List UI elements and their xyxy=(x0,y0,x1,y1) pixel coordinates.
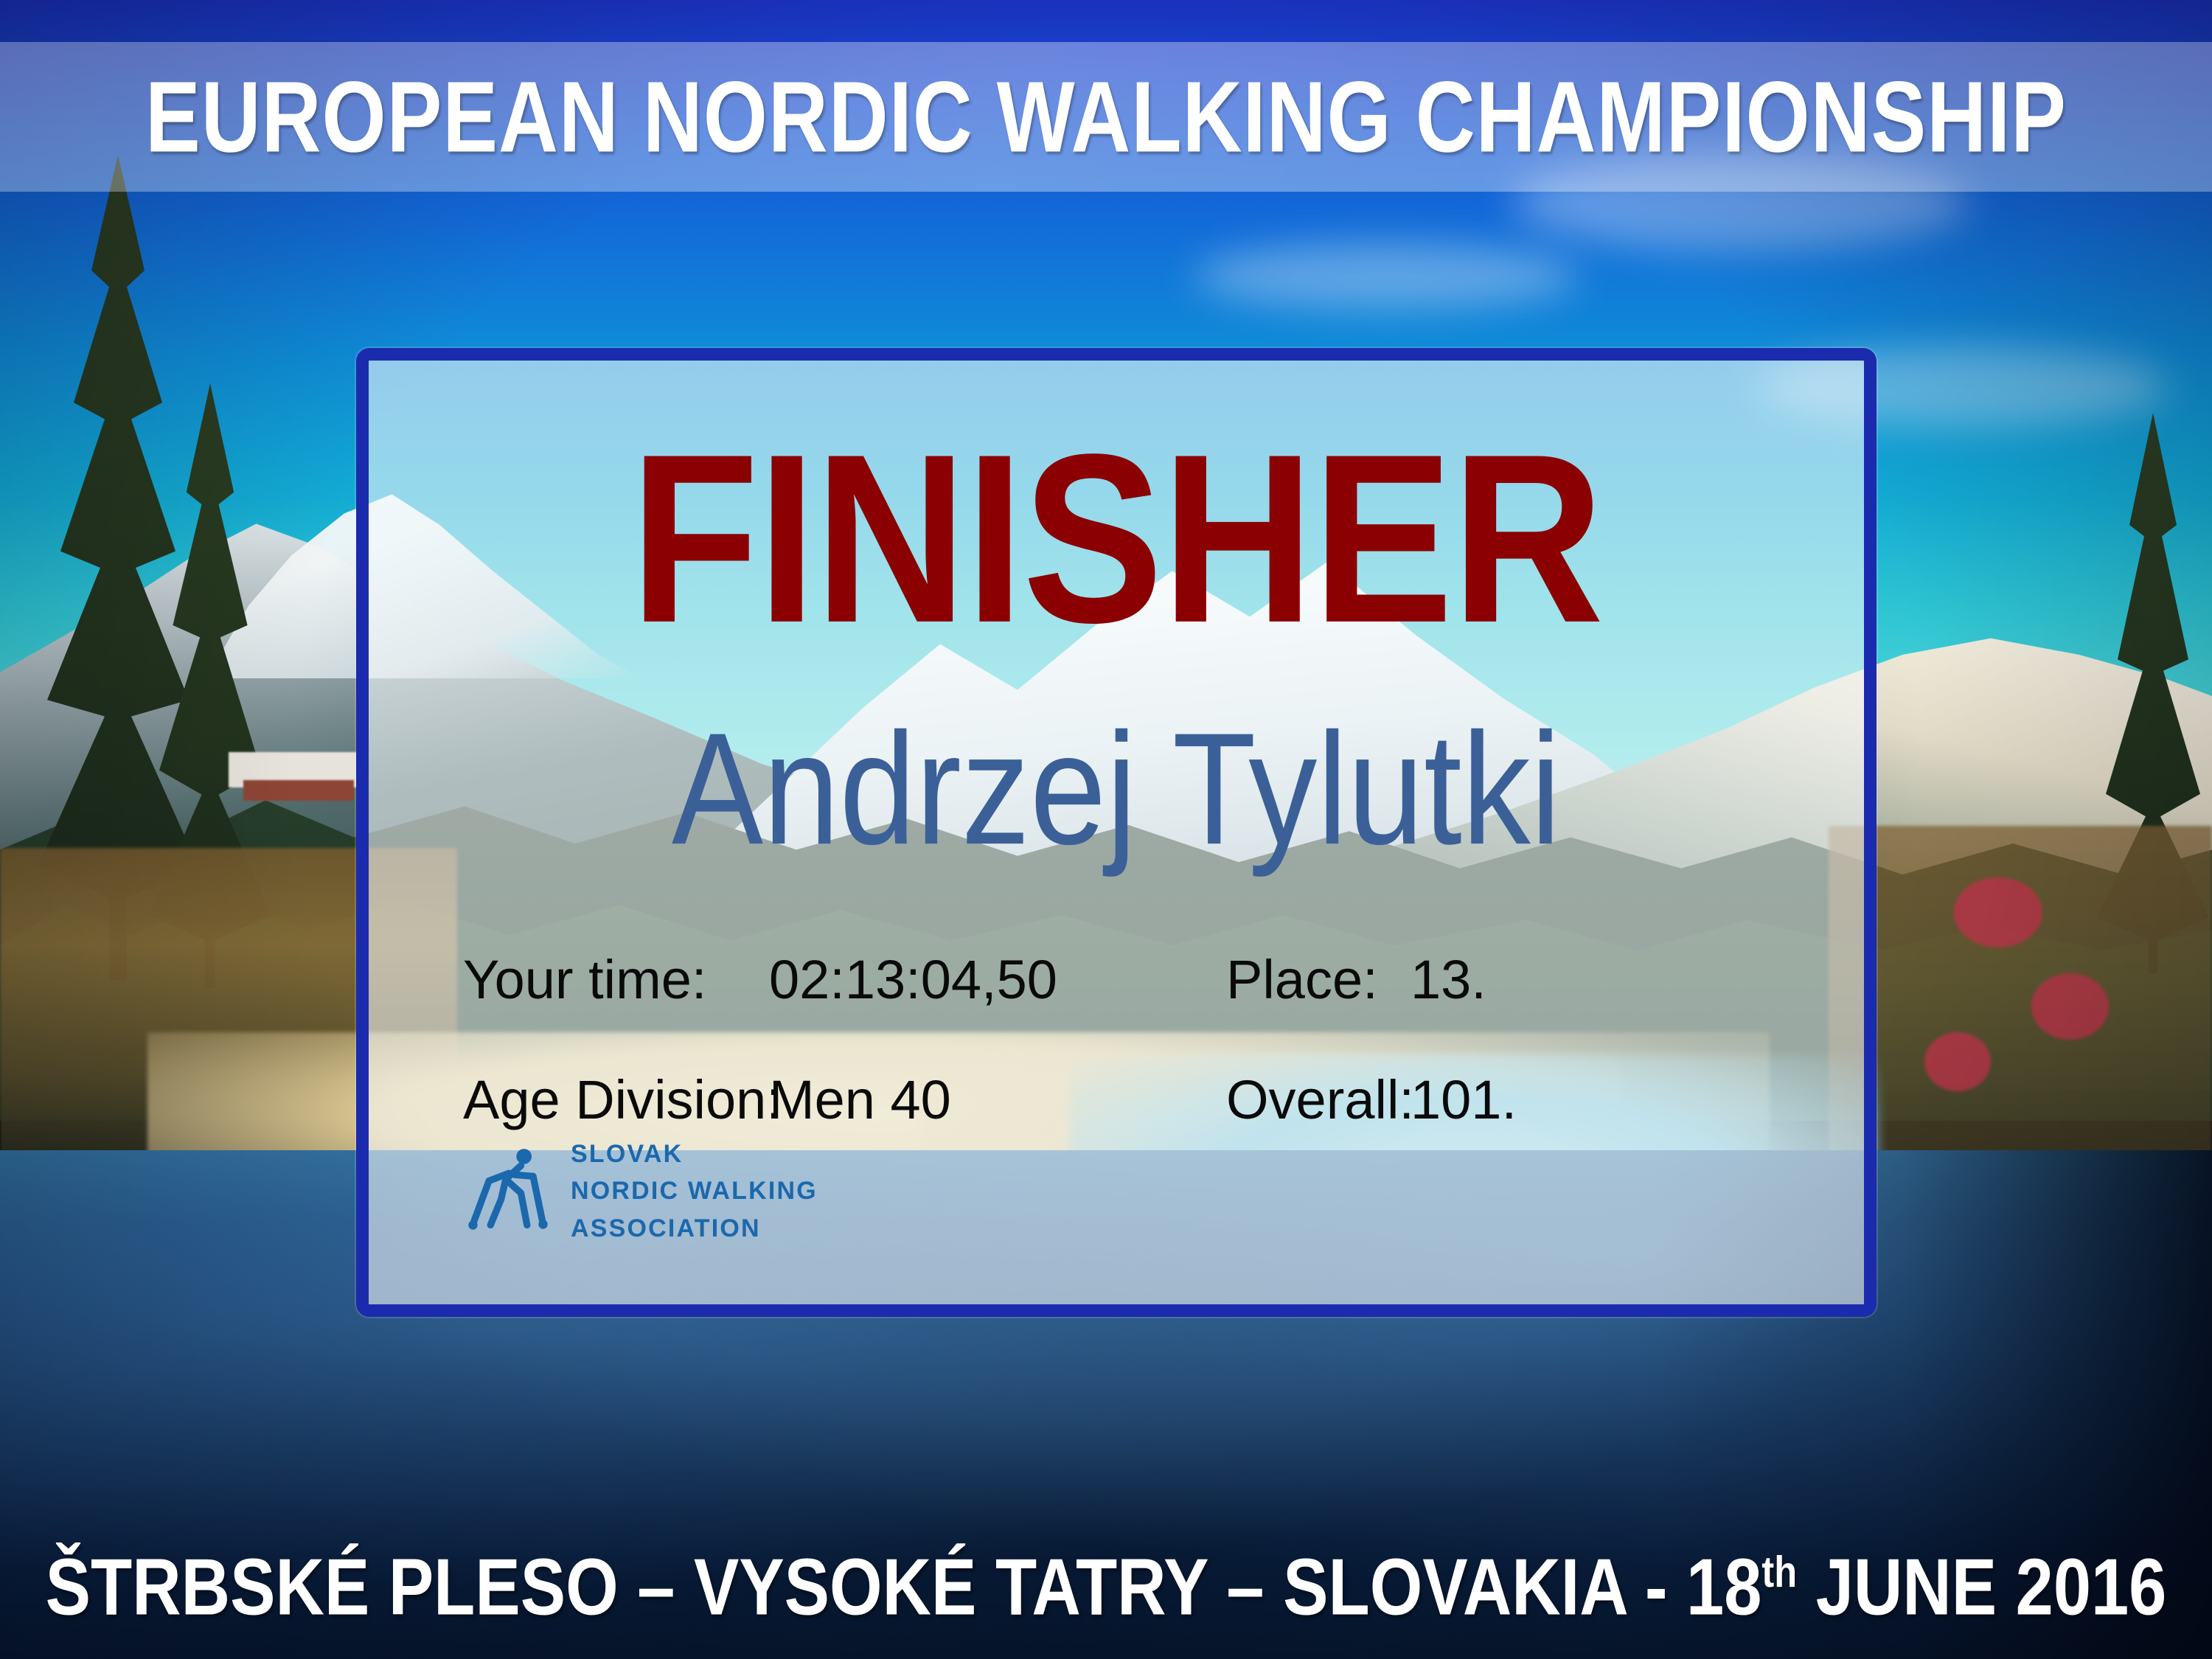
logo-line-nordic-walking: NORDIC WALKING xyxy=(571,1172,818,1209)
cloud-2 xyxy=(1194,243,1578,310)
place-label: Place: xyxy=(1226,948,1411,1011)
red-berry-cluster-3 xyxy=(1924,1032,1991,1091)
association-logo-text: SLOVAK NORDIC WALKING ASSOCIATION xyxy=(571,1135,818,1247)
event-title: EUROPEAN NORDIC WALKING CHAMPIONSHIP xyxy=(145,59,2067,175)
certificate-content: FINISHER Andrzej Tylutki Your time: 02:1… xyxy=(369,361,1864,1304)
nordic-walker-icon xyxy=(463,1146,554,1237)
event-location-date: ŠTRBSKÉ PLESO – VYSOKÉ TATRY – SLOVAKIA … xyxy=(46,1543,2167,1634)
association-logo: SLOVAK NORDIC WALKING ASSOCIATION xyxy=(463,1135,818,1247)
result-row-time: Your time: 02:13:04,50 Place: 13. xyxy=(463,948,1770,1011)
certificate-card: FINISHER Andrzej Tylutki Your time: 02:1… xyxy=(356,348,1877,1317)
footer-ordinal-suffix: th xyxy=(1761,1547,1797,1596)
footer-date-tail: JUNE 2016 xyxy=(1797,1543,2166,1632)
your-time-label: Your time: xyxy=(463,948,769,1011)
certificate-page: EUROPEAN NORDIC WALKING CHAMPIONSHIP FIN… xyxy=(0,0,2212,1659)
header-banner: EUROPEAN NORDIC WALKING CHAMPIONSHIP xyxy=(0,42,2212,192)
award-title: FINISHER xyxy=(630,423,1603,654)
age-division-value: Men 40 xyxy=(769,1068,1226,1131)
age-division-label: Age Division: xyxy=(463,1068,769,1131)
footer-location: ŠTRBSKÉ PLESO – VYSOKÉ TATRY – SLOVAKIA … xyxy=(46,1543,1762,1632)
place-value: 13. xyxy=(1411,948,1486,1011)
logo-line-slovak: SLOVAK xyxy=(571,1135,818,1172)
overall-value: 101. xyxy=(1411,1068,1517,1131)
footer-banner: ŠTRBSKÉ PLESO – VYSOKÉ TATRY – SLOVAKIA … xyxy=(0,1549,2212,1627)
red-berry-cluster-2 xyxy=(2031,973,2109,1040)
lodge-roof xyxy=(243,780,354,801)
result-details: Your time: 02:13:04,50 Place: 13. Age Di… xyxy=(369,948,1864,1131)
red-berry-cluster-1 xyxy=(1954,877,2042,947)
logo-line-association: ASSOCIATION xyxy=(571,1210,818,1247)
result-row-division: Age Division: Men 40 Overall: 101. xyxy=(463,1068,1770,1131)
your-time-value: 02:13:04,50 xyxy=(769,948,1226,1011)
athlete-name: Andrzej Tylutki xyxy=(672,710,1561,869)
overall-label: Overall: xyxy=(1226,1068,1411,1131)
